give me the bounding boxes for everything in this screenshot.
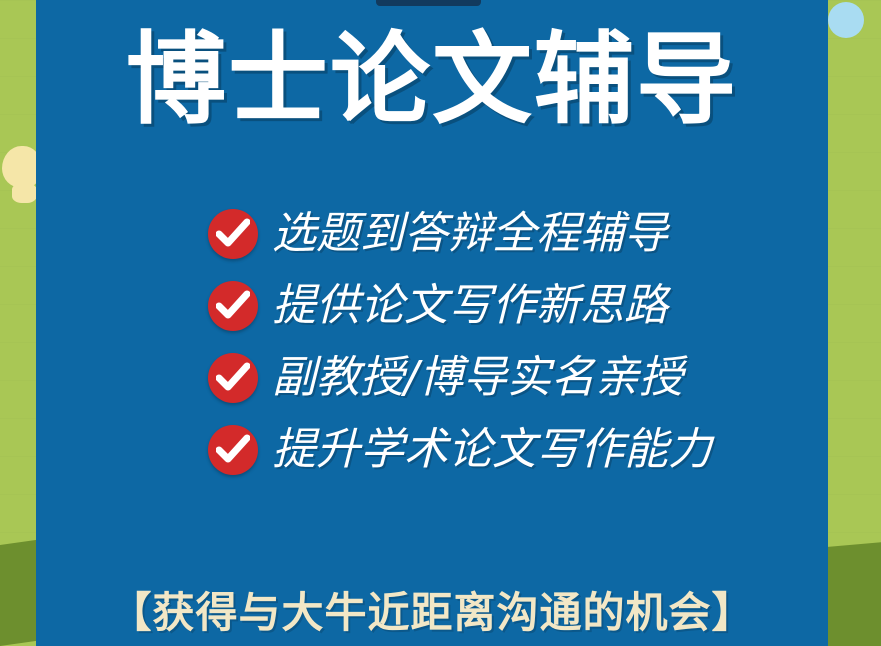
check-circle-icon — [208, 353, 258, 403]
green-shadow-left — [0, 539, 40, 646]
check-circle-icon — [208, 281, 258, 331]
page-title: 博士论文辅导 — [36, 24, 828, 136]
feature-label: 提供论文写作新思路 — [272, 281, 668, 331]
list-item: 提供论文写作新思路 — [208, 270, 828, 342]
feature-label: 提升学术论文写作能力 — [272, 425, 712, 475]
blue-circle-decoration-icon — [828, 2, 864, 38]
feature-label: 选题到答辩全程辅导 — [272, 209, 668, 259]
check-circle-icon — [208, 425, 258, 475]
list-item: 副教授/博导实名亲授 — [208, 342, 828, 414]
promo-poster: 博士论文辅导 选题到答辩全程辅导 提供论文写作新思路 — [0, 0, 881, 646]
list-item: 提升学术论文写作能力 — [208, 414, 828, 486]
promo-strapline: 【获得与大牛近距离沟通的机会】 — [36, 588, 828, 638]
top-cropped-shape — [376, 0, 481, 6]
list-item: 选题到答辩全程辅导 — [208, 198, 828, 270]
leaf-decoration-tail-icon — [12, 183, 38, 203]
feature-list: 选题到答辩全程辅导 提供论文写作新思路 副教授/博导实名亲授 — [208, 198, 828, 486]
check-circle-icon — [208, 209, 258, 259]
feature-label: 副教授/博导实名亲授 — [272, 353, 683, 403]
